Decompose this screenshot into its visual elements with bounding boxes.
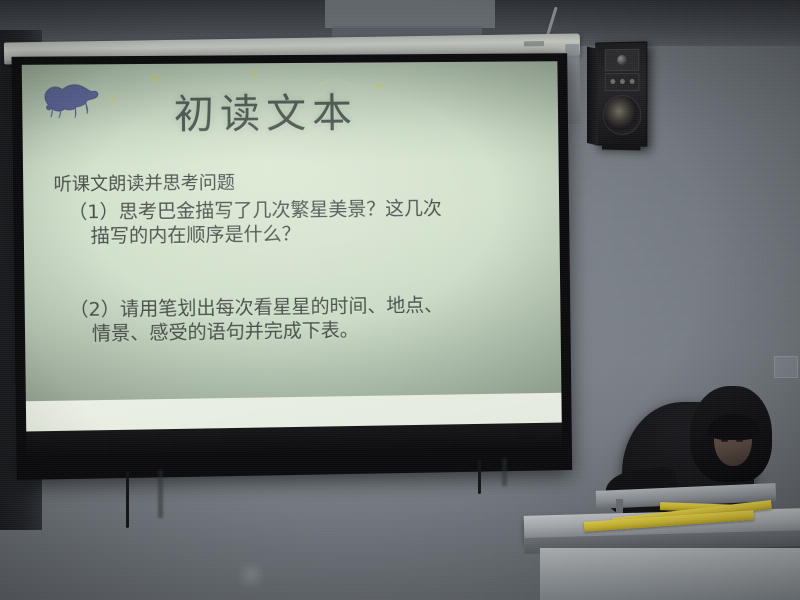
- screen-weight-bar: [26, 423, 562, 456]
- slide-question-1: （1）思考巴金描写了几次繁星美景？这几次 描写的内在顺序是什么？: [54, 195, 546, 249]
- slide-title: 初读文本: [173, 81, 358, 141]
- strap-shadow: [502, 458, 507, 486]
- sparkle-icon: ✦: [148, 72, 161, 87]
- classroom-photo-scene: ✦ ✦ ✦ ✦ 初读文本 听课文朗读并思考问题 （1）思考巴金描写了几次繁星美景…: [0, 0, 800, 600]
- slide-lead-line: 听课文朗读并思考问题: [53, 169, 545, 197]
- wall-outlet: [774, 356, 798, 378]
- sparkle-icon: ✦: [249, 67, 260, 80]
- speaker-woofer: [603, 95, 641, 135]
- ceiling-panel: [325, 0, 495, 28]
- roller-brand-mark: [524, 41, 544, 46]
- screen-pull-strap[interactable]: [478, 460, 481, 494]
- lion-silhouette-icon: [40, 76, 103, 119]
- sparkle-icon: ✦: [109, 96, 118, 106]
- wall-speaker: [595, 41, 647, 146]
- sparkle-icon: ✦: [374, 80, 385, 93]
- screen-pull-strap[interactable]: [126, 472, 129, 528]
- speaker-side-panel: [587, 47, 598, 146]
- slide-body: 听课文朗读并思考问题 （1）思考巴金描写了几次繁星美景？这几次 描写的内在顺序是…: [53, 169, 547, 347]
- projection-screen: ✦ ✦ ✦ ✦ 初读文本 听课文朗读并思考问题 （1）思考巴金描写了几次繁星美景…: [11, 53, 572, 480]
- speaker-mount-bracket: [602, 144, 640, 151]
- strap-shadow: [158, 470, 163, 518]
- speaker-control-panel: [605, 73, 640, 91]
- projection-screen-surface: ✦ ✦ ✦ ✦ 初读文本 听课文朗读并思考问题 （1）思考巴金描写了几次繁星美景…: [22, 61, 562, 455]
- presentation-slide: ✦ ✦ ✦ ✦ 初读文本 听课文朗读并思考问题 （1）思考巴金描写了几次繁星美景…: [22, 61, 562, 401]
- speaker-tweeter: [605, 49, 640, 72]
- question-2-line-2: 情景、感受的语句并完成下表。: [69, 316, 547, 347]
- question-1-line-2: 描写的内在顺序是什么？: [68, 220, 546, 250]
- wall-scuff-mark: [236, 560, 266, 590]
- podium-body: [540, 548, 800, 600]
- slide-question-2: （2）请用笔划出每次看星星的时间、地点、 情景、感受的语句并完成下表。: [55, 291, 547, 346]
